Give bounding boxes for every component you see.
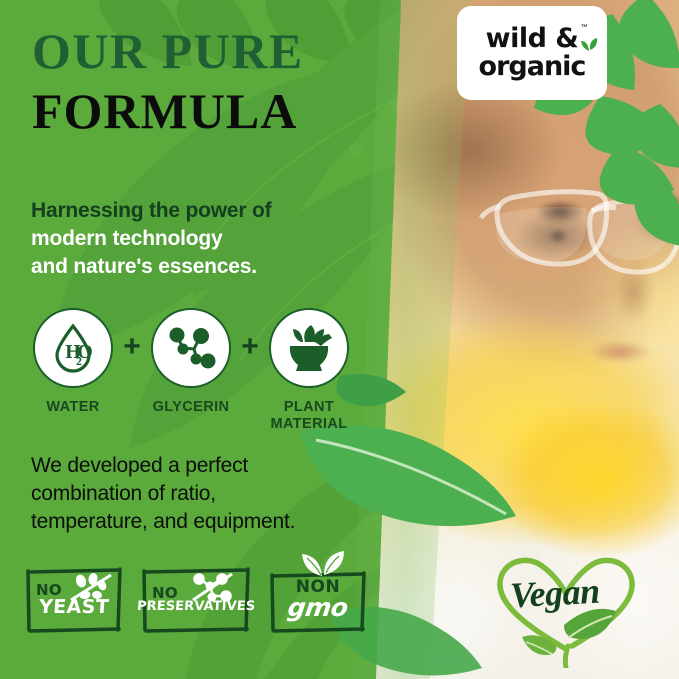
water-drop-h2o-icon: H O 2 H <box>45 320 101 376</box>
label-text-line1: PLANT <box>266 399 352 416</box>
logo-line2: organic <box>479 53 586 81</box>
subheadline: Harnessing the power of modern technolog… <box>31 197 271 281</box>
badge-main-label: PRESERVATIVES <box>136 599 255 614</box>
ingredient-circle <box>151 308 231 388</box>
poster-canvas: wild & ™ organic OUR PURE FORMULA Harnes… <box>0 0 679 679</box>
svg-text:H: H <box>65 341 81 363</box>
mortar-pestle-icon <box>281 320 337 376</box>
badge-no-yeast[interactable]: NO YEAST <box>24 563 124 635</box>
badge-main-label: gmo <box>286 593 350 622</box>
ingredient-label-water: WATER <box>30 399 116 432</box>
ingredient-plant-material[interactable] <box>266 308 352 388</box>
headline-line1: OUR PURE <box>32 26 304 76</box>
badge-text: NO YEAST <box>24 563 124 635</box>
badge-text: NO PRESERVATIVES <box>140 563 252 635</box>
plus-separator-2: + <box>234 332 266 364</box>
molecule-icon <box>163 320 219 376</box>
badge-main-label: YEAST <box>38 596 110 618</box>
ingredient-labels-row: WATER GLYCERIN PLANT MATERIAL <box>30 399 375 432</box>
badge-no-preservatives[interactable]: NO PRESERVATIVES <box>140 563 252 635</box>
logo-line1-row: wild & ™ <box>486 26 579 52</box>
subhead-line1: Harnessing the power of <box>31 197 271 225</box>
label-text-line2: MATERIAL <box>266 416 352 433</box>
ingredient-label-glycerin: GLYCERIN <box>148 399 234 432</box>
label-gap <box>116 399 148 432</box>
badge-non-gmo[interactable]: NON gmo <box>268 563 368 635</box>
ingredients-section: H O 2 H + <box>30 308 375 432</box>
label-text: WATER <box>46 399 99 415</box>
vegan-badge[interactable]: Vegan <box>486 546 646 668</box>
headline-line2: FORMULA <box>32 86 304 136</box>
label-text: GLYCERIN <box>153 399 230 415</box>
vegan-label: Vegan <box>509 570 601 617</box>
ingredient-glycerin[interactable] <box>148 308 234 388</box>
label-gap <box>234 399 266 432</box>
leaf-icon <box>580 36 598 52</box>
body-line2: combination of ratio, <box>31 480 295 508</box>
ingredient-icons-row: H O 2 H + <box>30 308 375 388</box>
logo-line1: wild & <box>486 26 579 52</box>
ingredient-circle <box>269 308 349 388</box>
body-line1: We developed a perfect <box>31 452 295 480</box>
certification-badges: NO YEAST <box>24 563 368 635</box>
ingredient-label-plant-material: PLANT MATERIAL <box>266 399 352 432</box>
body-paragraph: We developed a perfect combination of ra… <box>31 452 295 536</box>
ingredient-water[interactable]: H O 2 H <box>30 308 116 388</box>
plus-separator-1: + <box>116 332 148 364</box>
ingredient-circle: H O 2 H <box>33 308 113 388</box>
subhead-line2: modern technology <box>31 225 271 253</box>
subhead-line3: and nature's essences. <box>31 253 271 281</box>
body-line3: temperature, and equipment. <box>31 508 295 536</box>
trademark-symbol: ™ <box>580 24 587 31</box>
page-title: OUR PURE FORMULA <box>32 26 304 136</box>
brand-logo-card[interactable]: wild & ™ organic <box>457 6 607 100</box>
badge-text: NON gmo <box>268 563 368 635</box>
